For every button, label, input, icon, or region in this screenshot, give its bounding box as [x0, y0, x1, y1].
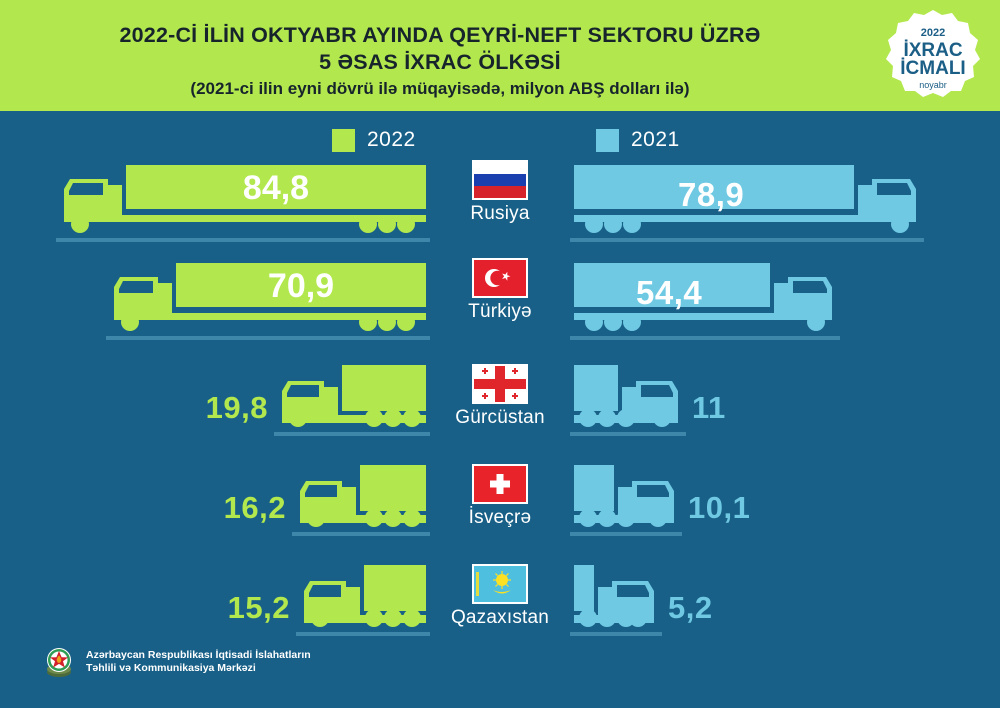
truck-icon-2022: 84,8	[62, 157, 430, 242]
baseline-2022	[56, 238, 430, 242]
legend-label-2022: 2022	[367, 128, 416, 152]
country-label: Qazaxıstan	[451, 607, 549, 629]
bar-2022-türkiyə: 70,9	[60, 258, 430, 346]
country-block-gürcüstan: Gürcüstan	[430, 364, 570, 429]
baseline-2021	[570, 532, 682, 536]
country-block-rusiya: Rusiya	[430, 160, 570, 225]
value-label-2021: 11	[692, 390, 726, 426]
value-label-2021: 10,1	[688, 490, 750, 526]
ixrac-icmali-badge: 2022 İXRAC İCMALI noyabr	[873, 4, 993, 128]
truck-icon-2022	[280, 359, 430, 436]
value-label-2022: 15,2	[228, 590, 290, 626]
page-title-line1: 2022-Cİ İLİN OKTYABR AYINDA QEYRİ-NEFT S…	[0, 22, 880, 49]
header-banner: 2022-Cİ İLİN OKTYABR AYINDA QEYRİ-NEFT S…	[0, 0, 1000, 111]
chart-row-gürcüstan: Gürcüstan19,811	[0, 362, 1000, 442]
flag-kazakhstan-icon	[472, 564, 528, 604]
country-label: İsveçrə	[469, 507, 532, 529]
chart-row-rusiya: Rusiya84,878,9	[0, 160, 1000, 248]
baseline-2021	[570, 336, 840, 340]
country-block-i̇sveçrə: İsveçrə	[430, 464, 570, 529]
bar-2021-rusiya: 78,9	[570, 160, 940, 248]
chart-row-qazaxıstan: Qazaxıstan15,25,2	[0, 562, 1000, 642]
truck-icon-2021	[570, 459, 676, 536]
value-label-2022: 19,8	[206, 390, 268, 426]
badge-line2: İCMALI	[900, 58, 965, 79]
country-block-qazaxıstan: Qazaxıstan	[430, 564, 570, 629]
country-label: Gürcüstan	[455, 407, 544, 429]
footer-line1: Azərbaycan Respublikası İqtisadi İslahat…	[86, 649, 311, 661]
country-label: Rusiya	[470, 203, 529, 225]
value-label-2021: 54,4	[636, 274, 702, 312]
country-label: Türkiyə	[468, 301, 532, 323]
truck-icon-2021	[570, 559, 656, 636]
value-label-2021: 78,9	[678, 176, 744, 214]
flag-russia-icon	[472, 160, 528, 200]
header-text-block: 2022-Cİ İLİN OKTYABR AYINDA QEYRİ-NEFT S…	[0, 22, 880, 102]
bar-2022-rusiya: 84,8	[60, 160, 430, 248]
flag-turkey-icon	[472, 258, 528, 298]
bar-2022-qazaxıstan: 15,2	[60, 562, 430, 642]
country-block-türkiyə: Türkiyə	[430, 258, 570, 323]
chart-row-i̇sveçrə: İsveçrə16,210,1	[0, 462, 1000, 542]
badge-year: 2022	[921, 27, 945, 39]
footer-org-name: Azərbaycan Respublikası İqtisadi İslahat…	[86, 649, 311, 675]
svg-text:84,8: 84,8	[243, 169, 309, 207]
truck-icon-2021	[570, 359, 680, 436]
bar-2022-gürcüstan: 19,8	[60, 362, 430, 442]
legend-item-2021: 2021	[596, 128, 680, 152]
baseline-2022	[106, 336, 430, 340]
baseline-2021	[570, 632, 662, 636]
chart-row-türkiyə: Türkiyə70,954,4	[0, 258, 1000, 346]
bar-2021-türkiyə: 54,4	[570, 258, 940, 346]
baseline-2021	[570, 238, 924, 242]
baseline-2022	[296, 632, 430, 636]
baseline-2022	[274, 432, 430, 436]
baseline-2021	[570, 432, 686, 436]
infographic-page: 2022-Cİ İLİN OKTYABR AYINDA QEYRİ-NEFT S…	[0, 0, 1000, 708]
legend-swatch-blue-icon	[596, 129, 619, 152]
bar-2021-gürcüstan: 11	[570, 362, 940, 442]
truck-icon-2022	[298, 459, 430, 536]
badge-month: noyabr	[919, 80, 947, 90]
value-label-2022: 16,2	[224, 490, 286, 526]
svg-text:70,9: 70,9	[268, 267, 334, 305]
chart-legend: 2022 2021	[0, 128, 1000, 158]
bar-2022-i̇sveçrə: 16,2	[60, 462, 430, 542]
legend-swatch-green-icon	[332, 129, 355, 152]
bar-2021-i̇sveçrə: 10,1	[570, 462, 940, 542]
azerbaijan-coat-of-arms-icon	[42, 645, 76, 679]
value-label-2021: 5,2	[668, 590, 713, 626]
legend-item-2022: 2022	[332, 128, 416, 152]
truck-icon-2022: 70,9	[112, 255, 430, 340]
baseline-2022	[292, 532, 430, 536]
page-subtitle: (2021-ci ilin eyni dövrü ilə müqayisədə,…	[0, 76, 880, 102]
flag-switzerland-icon	[472, 464, 528, 504]
legend-label-2021: 2021	[631, 128, 680, 152]
bar-2021-qazaxıstan: 5,2	[570, 562, 940, 642]
flag-georgia-icon	[472, 364, 528, 404]
footer-credit: Azərbaycan Respublikası İqtisadi İslahat…	[42, 645, 311, 679]
page-title-line2: 5 ƏSAS İXRAC ÖLKƏSİ	[0, 49, 880, 76]
truck-icon-2022	[302, 559, 430, 636]
badge-svg: 2022 İXRAC İCMALI noyabr	[873, 4, 993, 128]
footer-line2: Təhlili və Kommunikasiya Mərkəzi	[86, 662, 256, 674]
